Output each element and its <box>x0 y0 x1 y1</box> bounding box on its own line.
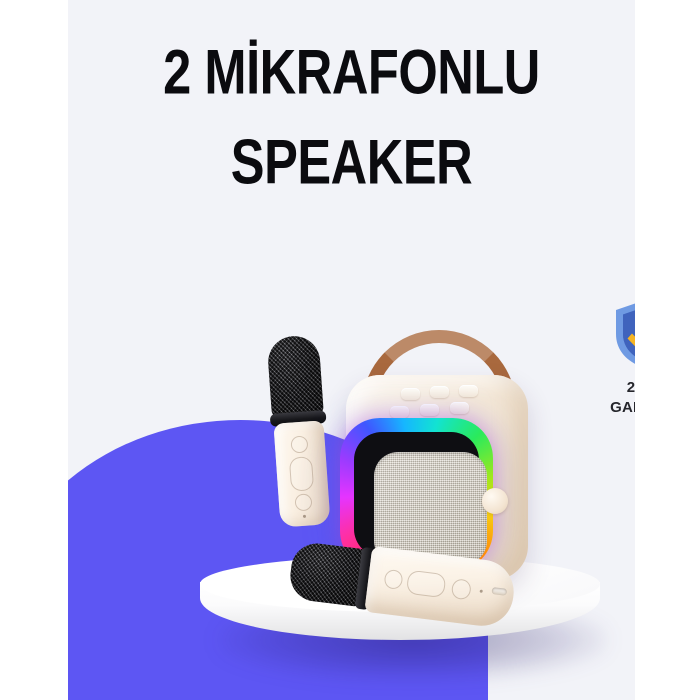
page-title: 2 MİKRAFONLU SPEAKER <box>68 40 635 186</box>
microphone-button <box>383 569 403 590</box>
microphone-led-indicator <box>480 590 483 593</box>
microphone-led-indicator <box>303 515 306 518</box>
wireless-microphone-left <box>263 334 334 528</box>
warranty-badge: 2 YIL GARANTİ <box>595 298 635 418</box>
microphone-button <box>294 493 312 511</box>
speaker-top-button <box>390 406 409 418</box>
microphone-volume-rocker <box>406 570 447 598</box>
shield-check-icon <box>612 298 635 370</box>
speaker-bezel <box>354 432 479 557</box>
warranty-line-1: 2 YIL <box>595 378 635 398</box>
title-line-1: 2 MİKRAFONLU <box>91 40 613 104</box>
product-backdrop-panel: 2 MİKRAFONLU SPEAKER 2 YIL GARANTİ <box>68 0 635 700</box>
microphone-body <box>273 420 330 527</box>
speaker-top-button <box>430 386 449 398</box>
microphone-volume-rocker <box>289 456 314 492</box>
speaker-top-button <box>420 404 439 416</box>
warranty-line-2: GARANTİ <box>595 398 635 418</box>
speaker-top-button <box>459 385 478 397</box>
speaker-top-button <box>450 402 469 414</box>
microphone-button <box>451 578 472 600</box>
microphone-button <box>290 435 308 453</box>
microphone-mesh-head <box>266 334 324 419</box>
speaker-top-button <box>401 388 420 400</box>
title-line-2: SPEAKER <box>91 130 613 194</box>
product-image-canvas: 2 MİKRAFONLU SPEAKER 2 YIL GARANTİ <box>0 0 700 700</box>
speaker-handle-mount <box>482 488 508 514</box>
